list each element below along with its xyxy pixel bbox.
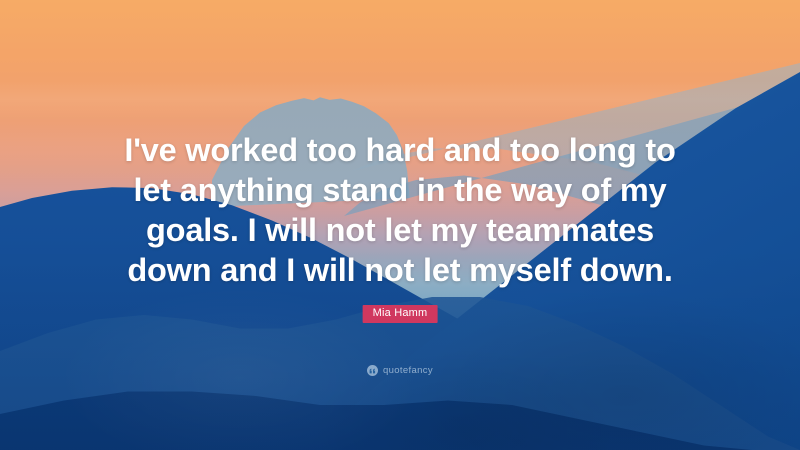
poster-content: I've worked too hard and too long to let… (0, 0, 800, 450)
quote-poster: I've worked too hard and too long to let… (0, 0, 800, 450)
author-badge[interactable]: Mia Hamm (363, 305, 438, 323)
watermark-label: quotefancy (383, 365, 433, 376)
watermark[interactable]: quotefancy (367, 365, 433, 376)
quote-mark-icon (367, 365, 378, 376)
quote-text: I've worked too hard and too long to let… (120, 130, 680, 290)
